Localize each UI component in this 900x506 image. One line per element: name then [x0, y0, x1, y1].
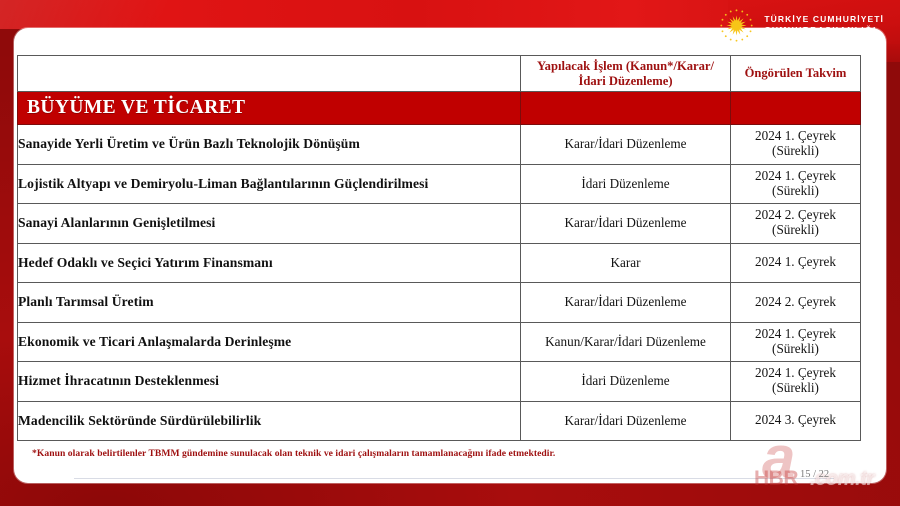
cell-takvim: 2024 1. Çeyrek(Sürekli): [731, 164, 861, 204]
cell-islem: İdari Düzenleme: [521, 164, 731, 204]
cell-takvim: 2024 2. Çeyrek(Sürekli): [731, 204, 861, 244]
cell-islem: İdari Düzenleme: [521, 362, 731, 402]
section-banner-filler-takvim: [731, 92, 861, 125]
cell-topic: Planlı Tarımsal Üretim: [18, 283, 521, 323]
cell-takvim-main: 2024 1. Çeyrek: [755, 326, 836, 341]
table-row: Sanayide Yerli Üretim ve Ürün Bazlı Tekn…: [18, 125, 861, 165]
table-row: Hizmet İhracatının Desteklenmesiİdari Dü…: [18, 362, 861, 402]
cell-takvim-main: 2024 2. Çeyrek: [755, 294, 836, 309]
cell-takvim-main: 2024 2. Çeyrek: [755, 207, 836, 222]
cell-topic: Hedef Odaklı ve Seçici Yatırım Finansman…: [18, 243, 521, 283]
table-body: BÜYÜME VE TİCARET Sanayide Yerli Üretim …: [18, 92, 861, 441]
slide-canvas: TÜRKİYE CUMHURİYETİ CUMHURBAŞKANLIĞI Yap…: [0, 0, 900, 506]
cell-topic: Lojistik Altyapı ve Demiryolu-Liman Bağl…: [18, 164, 521, 204]
cell-takvim-main: 2024 1. Çeyrek: [755, 128, 836, 143]
cell-takvim: 2024 1. Çeyrek(Sürekli): [731, 362, 861, 402]
cell-topic: Sanayide Yerli Üretim ve Ürün Bazlı Tekn…: [18, 125, 521, 165]
cell-takvim: 2024 3. Çeyrek: [731, 401, 861, 441]
section-banner-filler-islem: [521, 92, 731, 125]
logo-line-2: CUMHURBAŞKANLIĞI: [764, 25, 884, 36]
table-row: Madencilik Sektöründe SürdürülebilirlikK…: [18, 401, 861, 441]
cell-takvim: 2024 2. Çeyrek: [731, 283, 861, 323]
cell-takvim: 2024 1. Çeyrek(Sürekli): [731, 322, 861, 362]
cell-topic: Ekonomik ve Ticari Anlaşmalarda Derinleş…: [18, 322, 521, 362]
cell-islem: Karar: [521, 243, 731, 283]
presidency-logo-text: TÜRKİYE CUMHURİYETİ CUMHURBAŞKANLIĞI: [764, 14, 884, 36]
table-row: Sanayi Alanlarının GenişletilmesiKarar/İ…: [18, 204, 861, 244]
cell-takvim-sub: (Sürekli): [731, 342, 860, 357]
cell-takvim-sub: (Sürekli): [731, 381, 860, 396]
table-footnote: *Kanun olarak belirtilenler TBMM gündemi…: [32, 448, 732, 459]
logo-line-1: TÜRKİYE CUMHURİYETİ: [764, 14, 884, 25]
page-number: 15 / 22: [800, 469, 829, 480]
footer-hairline: [74, 478, 834, 479]
cell-islem: Karar/İdari Düzenleme: [521, 125, 731, 165]
cell-takvim-main: 2024 1. Çeyrek: [755, 254, 836, 269]
cell-takvim-sub: (Sürekli): [731, 223, 860, 238]
column-header-topic: [18, 56, 521, 92]
column-header-islem: Yapılacak İşlem (Kanun*/Karar/ İdari Düz…: [521, 56, 731, 92]
cell-islem: Karar/İdari Düzenleme: [521, 204, 731, 244]
table-row: Ekonomik ve Ticari Anlaşmalarda Derinleş…: [18, 322, 861, 362]
cell-takvim-sub: (Sürekli): [731, 184, 860, 199]
growth-and-trade-table: Yapılacak İşlem (Kanun*/Karar/ İdari Düz…: [17, 55, 861, 441]
cell-islem: Karar/İdari Düzenleme: [521, 401, 731, 441]
section-banner-title: BÜYÜME VE TİCARET: [18, 92, 521, 125]
section-banner-row: BÜYÜME VE TİCARET: [18, 92, 861, 125]
cell-topic: Hizmet İhracatının Desteklenmesi: [18, 362, 521, 402]
cell-topic: Madencilik Sektöründe Sürdürülebilirlik: [18, 401, 521, 441]
table-row: Planlı Tarımsal ÜretimKarar/İdari Düzenl…: [18, 283, 861, 323]
cell-takvim-main: 2024 1. Çeyrek: [755, 365, 836, 380]
presidency-logo: TÜRKİYE CUMHURİYETİ CUMHURBAŞKANLIĞI: [718, 6, 884, 44]
cell-islem: Karar/İdari Düzenleme: [521, 283, 731, 323]
turkish-presidency-sun-emblem: [718, 7, 755, 44]
column-header-islem-line2: İdari Düzenleme): [578, 74, 672, 88]
column-header-islem-line1: Yapılacak İşlem (Kanun*/Karar/: [537, 59, 714, 73]
cell-islem: Kanun/Karar/İdari Düzenleme: [521, 322, 731, 362]
cell-takvim-sub: (Sürekli): [731, 144, 860, 159]
cell-takvim-main: 2024 1. Çeyrek: [755, 168, 836, 183]
column-header-takvim: Öngörülen Takvim: [731, 56, 861, 92]
table-row: Hedef Odaklı ve Seçici Yatırım Finansman…: [18, 243, 861, 283]
cell-takvim: 2024 1. Çeyrek: [731, 243, 861, 283]
cell-takvim: 2024 1. Çeyrek(Sürekli): [731, 125, 861, 165]
table-row: Lojistik Altyapı ve Demiryolu-Liman Bağl…: [18, 164, 861, 204]
cell-topic: Sanayi Alanlarının Genişletilmesi: [18, 204, 521, 244]
table-header-row: Yapılacak İşlem (Kanun*/Karar/ İdari Düz…: [18, 56, 861, 92]
cell-takvim-main: 2024 3. Çeyrek: [755, 412, 836, 427]
